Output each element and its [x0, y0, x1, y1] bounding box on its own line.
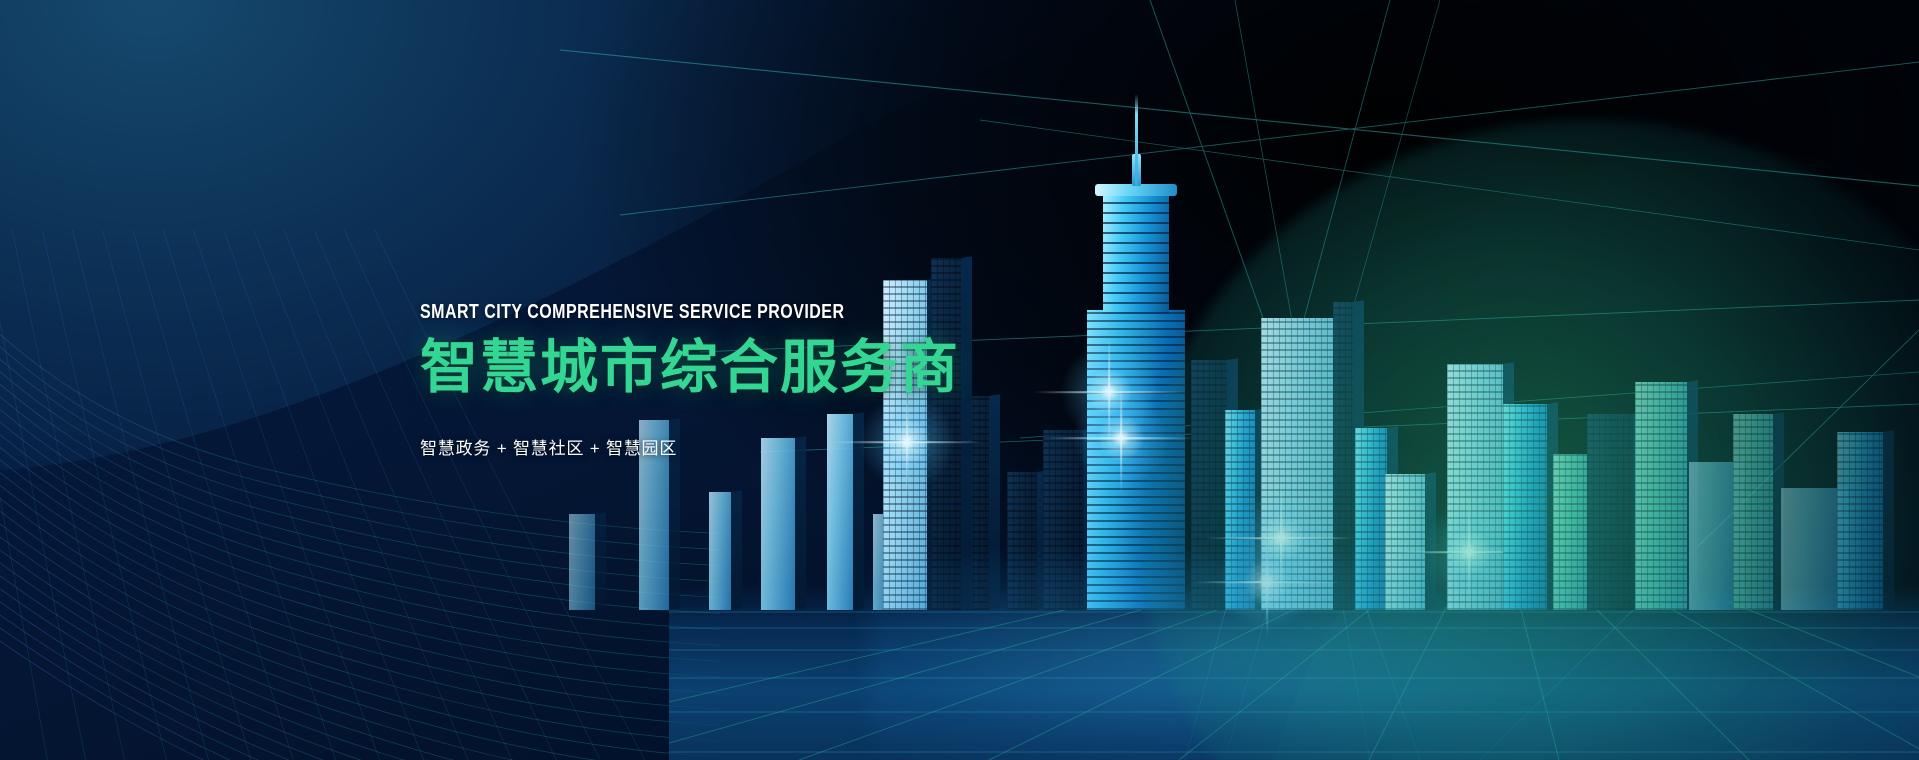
subtitle-services: 智慧政务 + 智慧社区 + 智慧园区: [420, 438, 960, 460]
page-title: 智慧城市综合服务商: [420, 338, 960, 399]
hero-copy-block: SMART CITY COMPREHENSIVE SERVICE PROVIDE…: [420, 302, 960, 460]
building-slab-1: [569, 514, 595, 610]
smart-city-hero-banner: SMART CITY COMPREHENSIVE SERVICE PROVIDE…: [0, 0, 1919, 760]
building-slab-4: [761, 438, 795, 610]
building-slab-3: [709, 492, 731, 610]
eyebrow-tagline: SMART CITY COMPREHENSIVE SERVICE PROVIDE…: [420, 302, 852, 322]
